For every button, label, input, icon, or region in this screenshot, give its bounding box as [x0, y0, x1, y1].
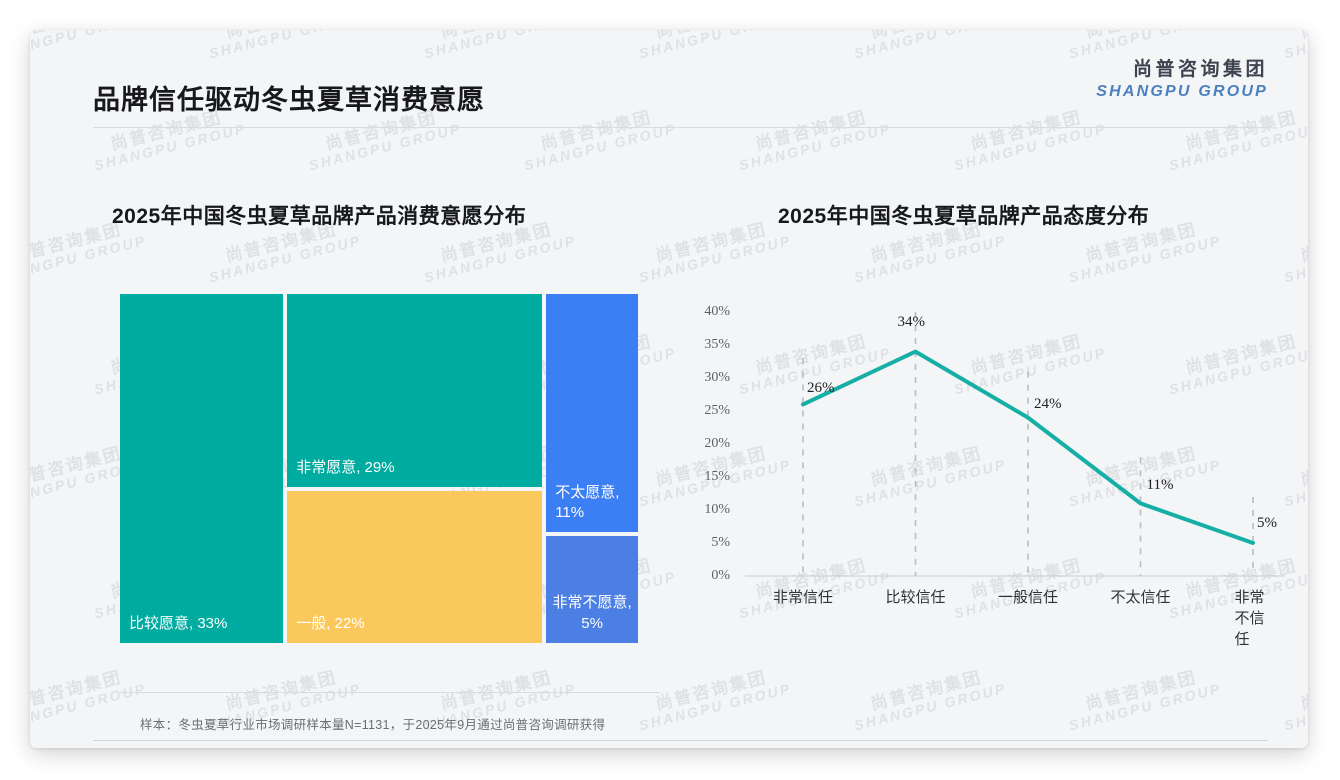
marimekko-segment[interactable]: 一般, 22% — [287, 491, 542, 643]
logo-english-text: SHANGPU GROUP — [1096, 82, 1268, 101]
header-divider — [93, 127, 1268, 128]
slide-card: 尚普咨询集团SHANGPU GROUP尚普咨询集团SHANGPU GROUP尚普… — [30, 30, 1308, 748]
data-point-label: 26% — [807, 380, 835, 397]
data-point-label: 24% — [1034, 396, 1062, 413]
y-axis-tick-label: 40% — [690, 304, 730, 320]
watermark-tile: 尚普咨询集团SHANGPU GROUP — [30, 664, 148, 734]
watermark-tile: 尚普咨询集团SHANGPU GROUP — [848, 664, 1008, 734]
left-chart-title: 2025年中国冬虫夏草品牌产品消费意愿分布 — [112, 200, 526, 230]
marimekko-segment[interactable]: 非常不愿意, 5% — [546, 536, 638, 643]
line-chart: 0%5%10%15%20%25%30%35%40%非常信任比较信任一般信任不太信… — [690, 294, 1290, 624]
y-axis-tick-label: 25% — [690, 403, 730, 419]
y-axis-tick-label: 15% — [690, 469, 730, 485]
slide-header: 品牌信任驱动冬虫夏草消费意愿 尚普咨询集团 SHANGPU GROUP — [30, 30, 1308, 128]
watermark-tile: 尚普咨询集团SHANGPU GROUP — [30, 552, 33, 622]
x-axis-tick-label: 一般信任 — [998, 586, 1058, 607]
data-point-label: 34% — [898, 314, 926, 331]
marimekko-column: 不太愿意, 11%非常不愿意, 5% — [546, 294, 638, 643]
right-chart-title: 2025年中国冬虫夏草品牌产品态度分布 — [778, 200, 1149, 230]
watermark-tile: 尚普咨询集团SHANGPU GROUP — [633, 664, 793, 734]
y-axis-tick-label: 10% — [690, 502, 730, 518]
y-axis-tick-label: 30% — [690, 370, 730, 386]
data-point-label: 11% — [1147, 477, 1174, 494]
marimekko-segment[interactable]: 不太愿意, 11% — [546, 294, 638, 532]
data-point-label: 5% — [1257, 515, 1277, 532]
y-axis-tick-label: 35% — [690, 337, 730, 353]
y-axis-tick-label: 0% — [690, 568, 730, 584]
footnote-divider — [120, 692, 660, 693]
marimekko-segment[interactable]: 非常愿意, 29% — [287, 294, 542, 487]
line-series — [803, 352, 1253, 543]
marimekko-segment[interactable]: 比较愿意, 33% — [120, 294, 283, 643]
marimekko-segment-label: 比较愿意, 33% — [120, 614, 236, 643]
x-axis-tick-label: 非常信任 — [773, 586, 833, 607]
y-axis-tick-label: 20% — [690, 436, 730, 452]
logo-chinese-text: 尚普咨询集团 — [1096, 58, 1268, 82]
x-axis-tick-label: 比较信任 — [885, 586, 945, 607]
line-chart-plot — [690, 294, 1290, 594]
marimekko-column: 非常愿意, 29%一般, 22% — [287, 294, 542, 643]
watermark-tile: 尚普咨询集团SHANGPU GROUP — [1278, 664, 1308, 734]
brand-logo: 尚普咨询集团 SHANGPU GROUP — [1096, 58, 1268, 101]
watermark-tile: 尚普咨询集团SHANGPU GROUP — [1063, 664, 1223, 734]
watermark-tile: 尚普咨询集团SHANGPU GROUP — [30, 328, 33, 398]
footer-divider — [93, 740, 1268, 741]
x-axis-tick-label: 不太信任 — [1110, 586, 1170, 607]
marimekko-chart: 比较愿意, 33%非常愿意, 29%一般, 22%不太愿意, 11%非常不愿意,… — [120, 294, 638, 643]
page-title: 品牌信任驱动冬虫夏草消费意愿 — [93, 78, 485, 117]
y-axis-tick-label: 5% — [690, 535, 730, 551]
watermark-tile: 尚普咨询集团SHANGPU GROUP — [633, 216, 793, 286]
marimekko-segment-label: 非常不愿意, 5% — [546, 593, 638, 643]
x-axis-tick-label: 非常不信任 — [1235, 586, 1272, 649]
marimekko-segment-label: 非常愿意, 29% — [287, 458, 403, 487]
marimekko-segment-label: 一般, 22% — [287, 614, 373, 643]
watermark-tile: 尚普咨询集团SHANGPU GROUP — [1278, 216, 1308, 286]
marimekko-column: 比较愿意, 33% — [120, 294, 283, 643]
footnote-text: 样本：冬虫夏草行业市场调研样本量N=1131，于2025年9月通过尚普咨询调研获… — [140, 714, 605, 733]
marimekko-segment-label: 不太愿意, 11% — [546, 483, 638, 533]
